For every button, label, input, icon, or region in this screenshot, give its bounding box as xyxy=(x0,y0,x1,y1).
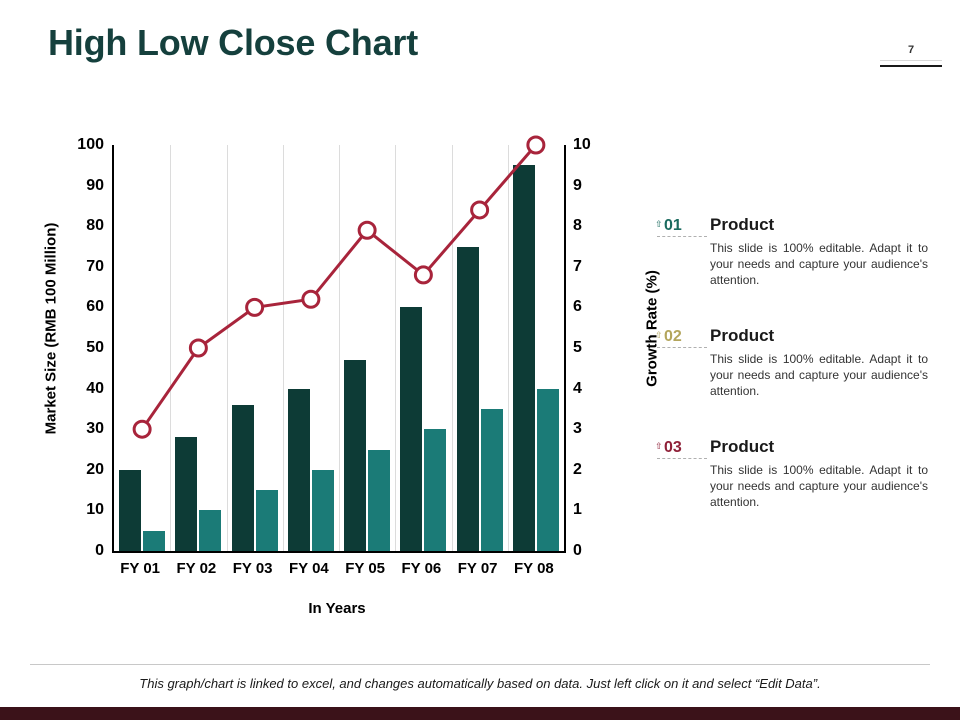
axis-tick-label: 0 xyxy=(573,543,617,559)
footer-note: This graph/chart is linked to excel, and… xyxy=(30,676,930,691)
x-axis-tick-label: FY 07 xyxy=(450,560,506,577)
growth-rate-marker xyxy=(359,222,375,238)
item-title: Product xyxy=(710,326,774,345)
plot-area xyxy=(112,145,566,551)
growth-rate-marker xyxy=(190,340,206,356)
chart: Market Size (RMB 100 Million) Growth Rat… xyxy=(0,130,640,640)
slide-canvas: High Low Close Chart 7 Market Size (RMB … xyxy=(0,0,960,720)
axis-tick-label: 40 xyxy=(60,381,104,397)
axis-tick-label: 100 xyxy=(60,137,104,153)
item-number-block: ⇧03 xyxy=(655,437,710,457)
growth-rate-marker xyxy=(303,291,319,307)
item-number-underline xyxy=(657,458,707,459)
footer-divider xyxy=(30,664,930,665)
page-number-block: 7 xyxy=(880,44,942,67)
axis-tick-label: 9 xyxy=(573,178,617,194)
axis-tick-label: 30 xyxy=(60,421,104,437)
x-axis-tick-label: FY 02 xyxy=(168,560,224,577)
item-description: This slide is 100% editable. Adapt it to… xyxy=(710,240,928,288)
axis-tick-label: 1 xyxy=(573,502,617,518)
item-description: This slide is 100% editable. Adapt it to… xyxy=(710,462,928,510)
product-list-item[interactable]: ⇧03ProductThis slide is 100% editable. A… xyxy=(655,437,945,510)
y-axis-ticks-right: 109876543210 xyxy=(573,145,617,551)
item-number-underline xyxy=(657,236,707,237)
x-axis-tick-labels: FY 01FY 02FY 03FY 04FY 05FY 06FY 07FY 08 xyxy=(112,560,562,584)
growth-rate-marker xyxy=(528,137,544,153)
item-description: This slide is 100% editable. Adapt it to… xyxy=(710,351,928,399)
growth-rate-line xyxy=(142,145,536,429)
axis-tick-label: 60 xyxy=(60,299,104,315)
axis-tick-label: 10 xyxy=(60,502,104,518)
x-axis-title: In Years xyxy=(112,600,562,617)
arrow-up-icon: ⇧ xyxy=(655,331,663,340)
y-axis-ticks-left: 1009080706050403020100 xyxy=(60,145,104,551)
axis-tick-label: 4 xyxy=(573,381,617,397)
item-number-block: ⇧01 xyxy=(655,215,710,235)
x-axis-tick-label: FY 04 xyxy=(281,560,337,577)
axis-tick-label: 5 xyxy=(573,340,617,356)
x-axis-tick-label: FY 03 xyxy=(225,560,281,577)
page-number: 7 xyxy=(880,44,942,57)
axis-tick-label: 6 xyxy=(573,299,617,315)
axis-tick-label: 3 xyxy=(573,421,617,437)
y-axis-label-left: Market Size (RMB 100 Million) xyxy=(43,184,60,474)
item-number: 03 xyxy=(664,439,682,456)
product-list: ⇧01ProductThis slide is 100% editable. A… xyxy=(655,215,945,548)
item-title: Product xyxy=(710,437,774,456)
x-axis-tick-label: FY 05 xyxy=(337,560,393,577)
bottom-accent-bar xyxy=(0,707,960,720)
axis-tick-label: 80 xyxy=(60,218,104,234)
axis-tick-label: 90 xyxy=(60,178,104,194)
page-title: High Low Close Chart xyxy=(48,22,418,64)
axis-tick-label: 8 xyxy=(573,218,617,234)
x-axis-tick-label: FY 01 xyxy=(112,560,168,577)
axis-tick-label: 2 xyxy=(573,462,617,478)
growth-rate-marker xyxy=(247,299,263,315)
x-axis-line xyxy=(112,551,566,553)
arrow-up-icon: ⇧ xyxy=(655,442,663,451)
growth-rate-line-series xyxy=(114,145,564,551)
axis-tick-label: 70 xyxy=(60,259,104,275)
item-number-block: ⇧02 xyxy=(655,326,710,346)
growth-rate-marker xyxy=(472,202,488,218)
axis-tick-label: 0 xyxy=(60,543,104,559)
axis-tick-label: 7 xyxy=(573,259,617,275)
page-number-rule-light xyxy=(880,60,942,61)
item-number-underline xyxy=(657,347,707,348)
product-list-item[interactable]: ⇧02ProductThis slide is 100% editable. A… xyxy=(655,326,945,399)
growth-rate-marker xyxy=(134,421,150,437)
axis-tick-label: 10 xyxy=(573,137,617,153)
growth-rate-marker xyxy=(415,267,431,283)
x-axis-tick-label: FY 06 xyxy=(393,560,449,577)
axis-tick-label: 50 xyxy=(60,340,104,356)
item-number: 02 xyxy=(664,328,682,345)
arrow-up-icon: ⇧ xyxy=(655,220,663,229)
product-list-item[interactable]: ⇧01ProductThis slide is 100% editable. A… xyxy=(655,215,945,288)
x-axis-tick-label: FY 08 xyxy=(506,560,562,577)
page-number-rule-dark xyxy=(880,65,942,67)
item-number: 01 xyxy=(664,217,682,234)
item-title: Product xyxy=(710,215,774,234)
axis-tick-label: 20 xyxy=(60,462,104,478)
